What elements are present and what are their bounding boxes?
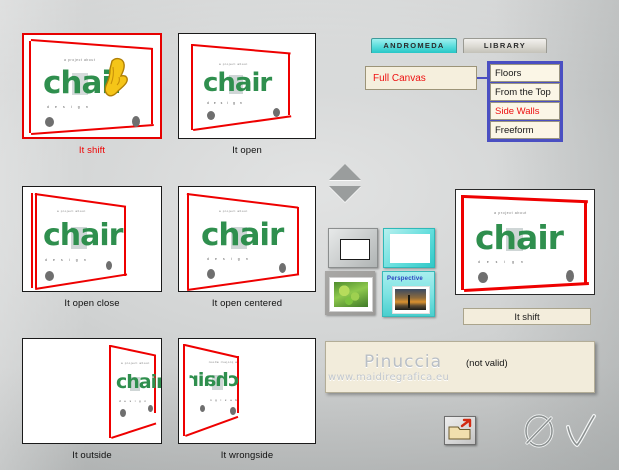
folder-export-icon — [445, 417, 475, 444]
poster-mark-left — [120, 409, 126, 417]
poster-top-caption: a project about — [208, 360, 237, 364]
preset-thumb-it-shift[interactable]: a project about chair d e s i g n — [22, 33, 162, 139]
poster-top-caption: a project about — [57, 209, 86, 213]
preset-label-it-open-close: It open close — [22, 298, 162, 309]
poster-artwork: a project about chair d e s i g n — [456, 190, 594, 294]
poster-artwork: a project about chair d e s i g n — [23, 339, 161, 443]
perspective-edge-bottom — [111, 422, 156, 438]
stepper-down-arrow[interactable] — [329, 186, 361, 202]
perspective-edge-top — [35, 193, 126, 208]
surface-options-list: Floors From the Top Side Walls Freeform — [487, 61, 563, 142]
poster-headline: chair — [191, 371, 240, 390]
perspective-edge-left — [183, 344, 185, 436]
preset-label-it-wrongside: It wrongside — [178, 450, 316, 461]
perspective-edge-right — [288, 53, 290, 115]
tab-andromeda-label: ANDROMEDA — [383, 41, 444, 50]
poster-top-caption: a project about — [494, 211, 527, 215]
no-slash-icon — [518, 409, 560, 453]
perspective-edge-right — [151, 48, 153, 124]
perspective-edge-top — [464, 195, 588, 203]
perspective-edge-left — [461, 195, 464, 290]
poster-top-caption: a project about — [219, 209, 248, 213]
tab-andromeda[interactable]: ANDROMEDA — [371, 38, 457, 53]
mode-button-perspective-thumbnail[interactable]: Perspective — [382, 271, 435, 317]
poster-bottom-caption: d e s i g n — [207, 257, 250, 261]
poster-mark-left — [207, 111, 215, 120]
poster-mark-left — [478, 272, 488, 283]
preset-cell-it-open[interactable]: a project about chair d e s i g n It ope… — [178, 33, 316, 139]
preview-preset-label: It shift — [463, 308, 591, 325]
poster-headline: chair — [116, 373, 162, 392]
poster-bottom-caption: d e s i g n — [45, 258, 88, 262]
poster-mark-right — [200, 405, 205, 412]
poster-artwork: a project about chair d e s i g n — [179, 187, 315, 291]
preset-cell-it-open-close[interactable]: a project about chair d e s i g n It ope… — [22, 186, 162, 292]
perspective-edge-bottom — [187, 273, 299, 291]
preset-cell-it-wrongside[interactable]: a project about chair d e s i g n It wro… — [178, 338, 316, 444]
registration-status: (not valid) — [466, 358, 508, 369]
perspective-edge-right — [297, 207, 299, 275]
preset-label-it-open-centered: It open centered — [178, 298, 316, 309]
perspective-edge-left — [31, 193, 33, 288]
poster-mark-right — [566, 270, 574, 282]
poster-artwork: a project about chair d e s i g n — [179, 339, 315, 443]
perspective-edge-bottom — [464, 282, 589, 292]
preset-label-it-shift: It shift — [22, 145, 162, 156]
perspective-edge-left — [191, 44, 193, 130]
poster-bottom-caption: d e s i g n — [47, 105, 90, 109]
registered-user-name: Pinuccia — [364, 352, 442, 372]
poster-top-caption: a project about — [64, 58, 95, 62]
poster-mark-left — [45, 271, 54, 281]
mode-button-white-canvas[interactable] — [383, 228, 435, 268]
stepper-up-arrow[interactable] — [329, 164, 361, 180]
poster-mark-left — [207, 269, 215, 279]
poster-headline: chair — [475, 221, 563, 254]
perspective-edge-top — [31, 39, 153, 50]
perspective-edge-right — [124, 206, 126, 276]
poster-artwork: a project about chair d e s i g n — [24, 35, 160, 137]
poster-mark-right — [132, 116, 140, 127]
registration-url: www.maidiregrafica.eu — [328, 372, 449, 383]
surface-option-floors[interactable]: Floors — [490, 64, 560, 82]
preset-thumb-it-open-close[interactable]: a project about chair d e s i g n — [22, 186, 162, 292]
photo-frame — [329, 277, 373, 312]
perspective-edge-right — [584, 201, 587, 283]
poster-headline: chair — [43, 221, 122, 251]
main-preview[interactable]: a project about chair d e s i g n — [455, 189, 595, 295]
preset-thumb-it-open[interactable]: a project about chair d e s i g n — [178, 33, 316, 139]
perspective-edge-left — [109, 345, 111, 438]
poster-bottom-caption: d e s i g n — [207, 101, 244, 105]
canvas-mode-field[interactable]: Full Canvas — [365, 66, 477, 90]
green-photo-icon — [334, 282, 368, 307]
poster-mark-left — [230, 407, 236, 415]
cancel-button[interactable] — [518, 409, 560, 453]
preset-label-it-open: It open — [178, 145, 316, 156]
preset-label-it-outside: It outside — [22, 450, 162, 461]
poster-artwork: a project about chair d e s i g n — [179, 34, 315, 138]
poster-artwork: a project about chair d e s i g n — [23, 187, 161, 291]
poster-mark-right — [273, 108, 280, 117]
open-file-button[interactable] — [444, 416, 476, 445]
white-rect-icon — [390, 234, 430, 263]
registration-panel: Pinuccia (not valid) www.maidiregrafica.… — [325, 341, 595, 393]
mode-button-outline-preview[interactable] — [328, 228, 378, 268]
poster-bottom-caption: d e s i g n — [119, 399, 147, 403]
photo-frame — [392, 286, 430, 314]
surface-option-side-walls[interactable]: Side Walls — [490, 102, 560, 120]
perspective-edge-top — [187, 193, 298, 209]
poster-bottom-caption: d e s i g n — [478, 260, 526, 264]
preset-thumb-it-open-centered[interactable]: a project about chair d e s i g n — [178, 186, 316, 292]
perspective-edge-left — [187, 193, 189, 289]
mirrored-artwork: a project about chair d e s i g n — [187, 355, 243, 425]
preset-cell-it-outside[interactable]: a project about chair d e s i g n It out… — [22, 338, 162, 444]
poster-mark-right — [148, 405, 153, 412]
sunset-photo-icon — [395, 289, 426, 310]
perspective-edge-left — [29, 41, 31, 133]
surface-option-from-the-top[interactable]: From the Top — [490, 83, 560, 101]
poster-headline: chair — [201, 220, 283, 251]
poster-mark-left — [45, 117, 54, 127]
mode-button-image-thumbnail[interactable] — [325, 271, 375, 315]
poster-headline: chair — [203, 70, 271, 96]
outline-rect-icon — [340, 239, 370, 260]
poster-headline: chair — [43, 68, 125, 99]
poster-top-caption: a project about — [121, 361, 150, 365]
ok-button[interactable] — [562, 409, 602, 453]
preset-thumb-it-wrongside[interactable]: a project about chair d e s i g n — [178, 338, 316, 444]
poster-top-caption: a project about — [219, 62, 248, 66]
perspective-edge-top — [193, 44, 291, 55]
poster-mark-right — [279, 263, 286, 273]
tab-library[interactable]: LIBRARY — [463, 38, 547, 53]
andromeda-perspective-window: a project about chair d e s i g n It shi… — [0, 0, 619, 470]
preset-cell-it-shift[interactable]: a project about chair d e s i g n It shi… — [22, 33, 162, 139]
surface-option-freeform[interactable]: Freeform — [490, 121, 560, 139]
preset-thumb-it-outside[interactable]: a project about chair d e s i g n — [22, 338, 162, 444]
perspective-thumbnail-label: Perspective — [387, 276, 423, 282]
tab-library-label: LIBRARY — [484, 41, 526, 50]
poster-mark-right — [106, 261, 112, 270]
preset-cell-it-open-centered[interactable]: a project about chair d e s i g n It ope… — [178, 186, 316, 292]
checkmark-icon — [562, 409, 602, 453]
perspective-edge-left2 — [35, 193, 37, 288]
perspective-edge-top — [111, 345, 156, 357]
poster-bottom-caption: d e s i g n — [209, 398, 237, 402]
